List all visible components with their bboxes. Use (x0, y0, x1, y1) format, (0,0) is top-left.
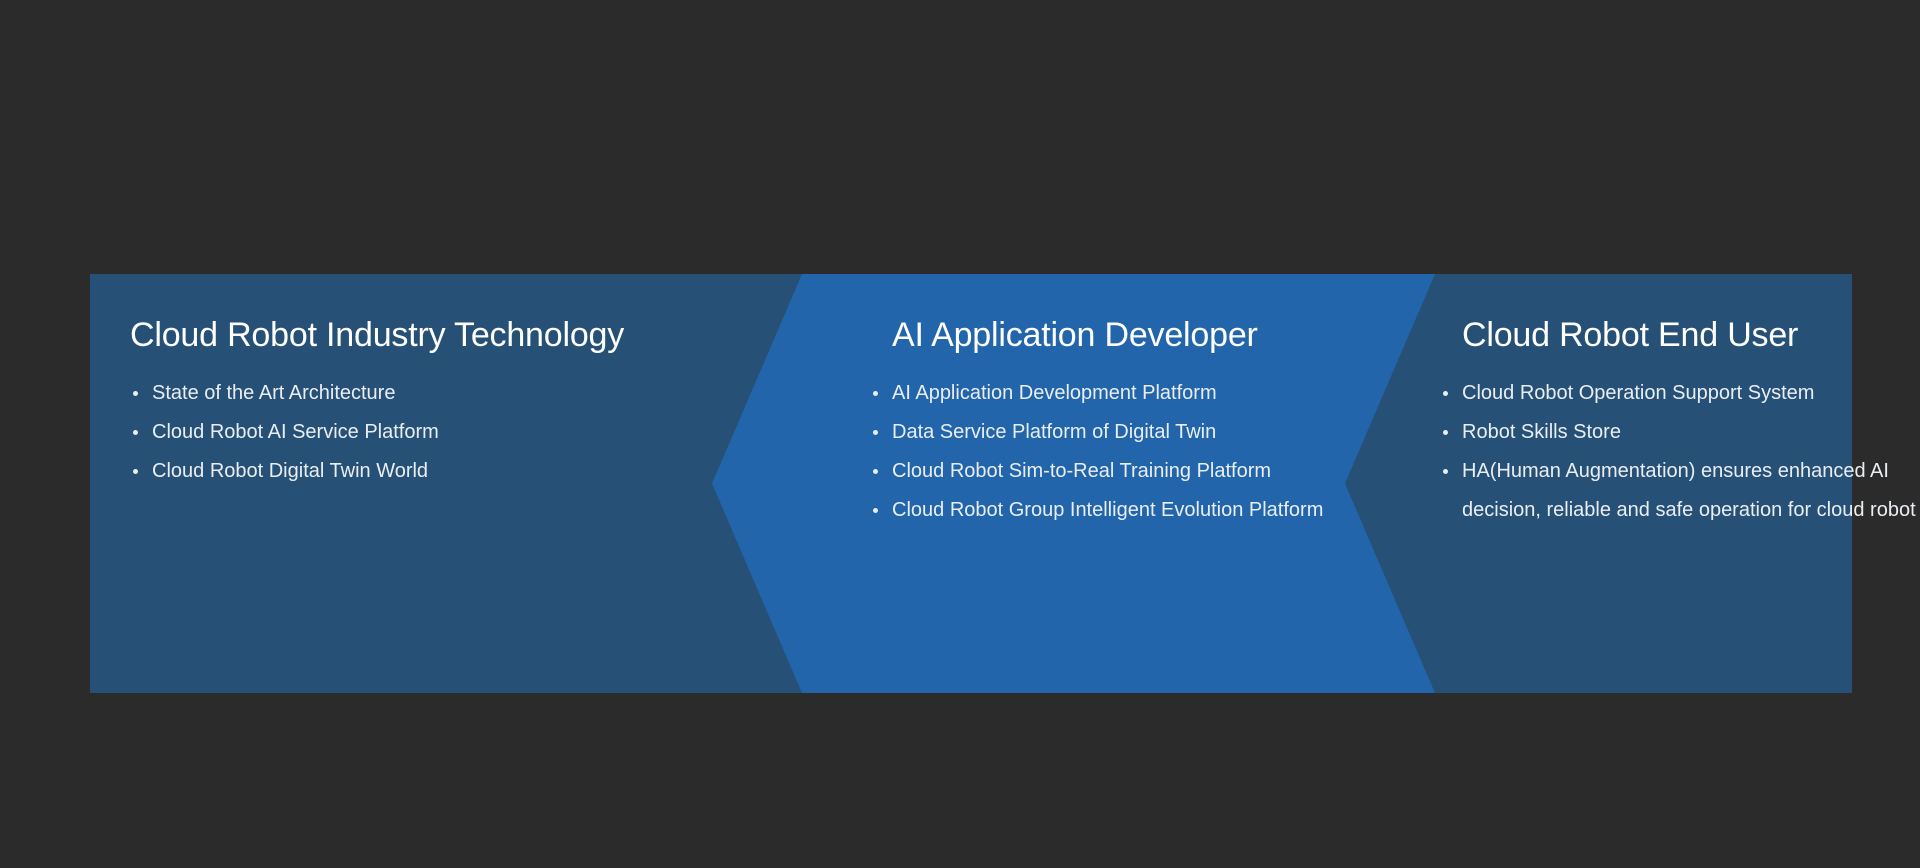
stage-bullet-list-2: AI Application Development Platform Data… (870, 374, 1390, 530)
list-item: Cloud Robot Group Intelligent Evolution … (870, 491, 1390, 530)
list-item-label: Cloud Robot Digital Twin World (152, 460, 428, 482)
list-item: Cloud Robot Digital Twin World (130, 452, 730, 491)
list-item: Data Service Platform of Digital Twin (870, 413, 1390, 452)
stage-bullet-list-3: Cloud Robot Operation Support System Rob… (1440, 374, 1920, 530)
list-item: State of the Art Architecture (130, 374, 730, 413)
list-item-label: State of the Art Architecture (152, 382, 395, 404)
list-item-label: Cloud Robot Operation Support System (1462, 382, 1814, 404)
bullet-dot-icon (133, 469, 138, 474)
list-item-label: Cloud Robot Group Intelligent Evolution … (892, 499, 1323, 521)
list-item-label: Cloud Robot Sim-to-Real Training Platfor… (892, 460, 1271, 482)
bullet-dot-icon (133, 391, 138, 396)
stage-panel-cloud-robot-industry-technology: Cloud Robot Industry Technology State of… (90, 274, 790, 693)
bullet-dot-icon (873, 430, 878, 435)
bullet-dot-icon (1443, 430, 1448, 435)
list-item-label: Cloud Robot AI Service Platform (152, 421, 439, 443)
list-item: Cloud Robot AI Service Platform (130, 413, 730, 452)
bullet-dot-icon (873, 508, 878, 513)
list-item: Robot Skills Store (1440, 413, 1920, 452)
bullet-dot-icon (873, 469, 878, 474)
stage-panel-ai-application-developer: AI Application Developer AI Application … (790, 274, 1350, 693)
stage-title-1: Cloud Robot Industry Technology (130, 316, 624, 355)
bullet-dot-icon (133, 430, 138, 435)
bullet-dot-icon (1443, 391, 1448, 396)
chevron-banner: Cloud Robot Industry Technology State of… (90, 274, 1852, 693)
bullet-dot-icon (873, 391, 878, 396)
slide-canvas: Cloud Robot Industry Technology State of… (0, 0, 1920, 868)
list-item: HA(Human Augmentation) ensures enhanced … (1440, 452, 1920, 530)
list-item-label: HA(Human Augmentation) ensures enhanced … (1462, 460, 1916, 521)
stage-title-2: AI Application Developer (892, 316, 1258, 355)
bullet-dot-icon (1443, 469, 1448, 474)
stage-title-3: Cloud Robot End User (1462, 316, 1798, 355)
list-item: Cloud Robot Operation Support System (1440, 374, 1920, 413)
list-item-label: AI Application Development Platform (892, 382, 1217, 404)
list-item-label: Robot Skills Store (1462, 421, 1621, 443)
stage-bullet-list-1: State of the Art Architecture Cloud Robo… (130, 374, 730, 491)
list-item: AI Application Development Platform (870, 374, 1390, 413)
stage-panel-cloud-robot-end-user: Cloud Robot End User Cloud Robot Operati… (1352, 274, 1852, 693)
list-item: Cloud Robot Sim-to-Real Training Platfor… (870, 452, 1390, 491)
list-item-label: Data Service Platform of Digital Twin (892, 421, 1216, 443)
